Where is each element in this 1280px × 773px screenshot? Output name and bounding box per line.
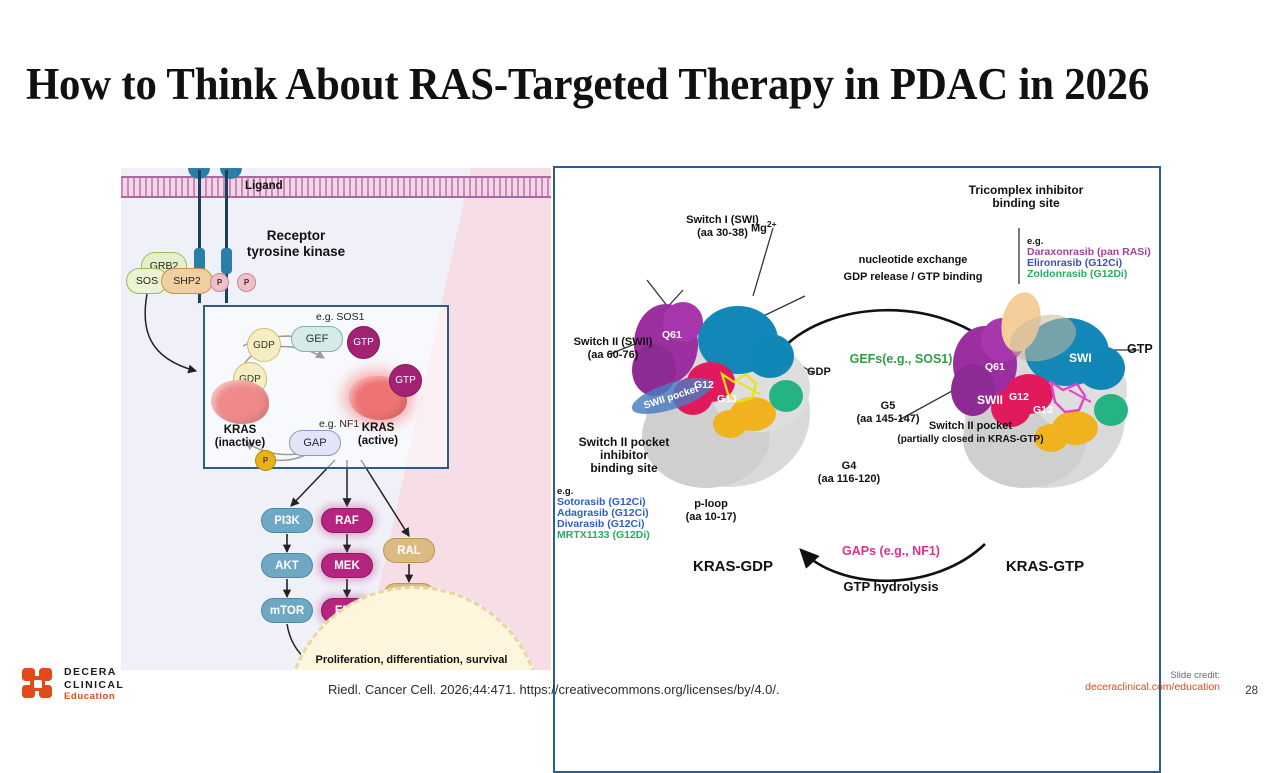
g5-line-1: G5 (833, 400, 943, 413)
mg-ion-label: Mg2+ (751, 218, 777, 236)
slide-credit-url: deceraclinical.com/education (1085, 681, 1220, 693)
switch2-label: Switch II (SWII) (aa 60-76) (559, 336, 667, 362)
node-ral: RAL (383, 538, 435, 563)
switch2-line-2: (aa 60-76) (559, 349, 667, 362)
shp2-node: SHP2 (161, 268, 213, 294)
svg-text:SWII: SWII (977, 393, 1003, 407)
slide-credit: Slide credit: deceraclinical.com/educati… (1085, 670, 1220, 693)
decera-logo-icon (22, 668, 56, 702)
slide-credit-label: Slide credit: (1085, 670, 1220, 681)
node-raf: RAF (321, 508, 373, 533)
page-title: How to Think About RAS-Targeted Therapy … (26, 55, 1166, 113)
svg-text:G12: G12 (1009, 391, 1029, 403)
kras-gtp-structure: SWII Q61 SWI G12 G13 (933, 278, 1148, 493)
exchange-line-1: nucleotide exchange (803, 254, 1023, 267)
kras-gdp-caption: KRAS-GDP (643, 558, 823, 575)
logo-line-3: Education (64, 691, 124, 704)
kras-active-line-1: KRAS (337, 422, 419, 435)
swii-pocket-inhibitor-title: Switch II pocket inhibitor binding site (555, 436, 693, 475)
gtp-swii-pocket-label: Switch II pocket (partially closed in KR… (873, 420, 1068, 446)
kras-active-line-2: (active) (337, 435, 419, 448)
kras-inactive-line-2: (inactive) (199, 437, 281, 450)
logo-line-2: CLINICAL (64, 679, 124, 692)
gdp-ligand-label: GDP (807, 366, 831, 379)
figure-container: Ligand Receptor tyrosine kinase GRB2 SOS… (0, 130, 1280, 650)
svg-text:G13: G13 (1033, 404, 1053, 416)
drug-zoldonrasib: Zoldonrasib (G12Di) (1027, 269, 1151, 280)
gap-node: GAP (289, 430, 341, 456)
svg-text:G12: G12 (694, 379, 714, 391)
mg-sup: 2+ (767, 219, 777, 229)
p-loop-label: p-loop (aa 10-17) (663, 498, 759, 524)
slide-footer: DECERA CLINICAL Education Riedl. Cancer … (0, 652, 1280, 720)
gaps-label: GAPs (e.g., NF1) (791, 546, 991, 557)
citation-text: Riedl. Cancer Cell. 2026;44:471. https:/… (328, 682, 780, 697)
gtp-pocket-line-1: Switch II pocket (873, 420, 1068, 433)
g4-line-2: (aa 116-120) (793, 473, 905, 486)
g4-label: G4 (aa 116-120) (793, 460, 905, 486)
switch2-line-1: Switch II (SWII) (559, 336, 667, 349)
tricomplex-line-2: binding site (951, 197, 1101, 210)
kras-active-label: KRAS (active) (337, 422, 419, 448)
kras-inactive-line-1: KRAS (199, 424, 281, 437)
ploop-line-1: p-loop (663, 498, 759, 511)
mg-base: Mg (751, 223, 767, 235)
receptor-tyrosine-kinase-label: Receptor tyrosine kinase (216, 228, 376, 260)
free-phosphate-chip: P (255, 450, 276, 471)
rtk-label-line-1: Receptor (216, 228, 376, 244)
gtp-free-chip: GTP (347, 326, 380, 359)
membrane-lipid-heads (121, 178, 551, 196)
ras-pathway-panel: Ligand Receptor tyrosine kinase GRB2 SOS… (121, 168, 551, 670)
svg-text:SWI: SWI (1069, 351, 1092, 365)
rtk-label-line-2: tyrosine kinase (216, 244, 376, 260)
gef-example-label: e.g. SOS1 (316, 311, 364, 323)
svg-text:Q61: Q61 (985, 361, 1005, 373)
logo-line-1: DECERA (64, 666, 124, 679)
gtp-bound-chip: GTP (389, 364, 422, 397)
ploop-line-2: (aa 10-17) (663, 511, 759, 524)
svg-text:G13: G13 (717, 393, 737, 405)
node-mek: MEK (321, 553, 373, 578)
gdp-free-chip: GDP (247, 328, 281, 362)
kras-inactive-blob (211, 380, 269, 424)
phospho-site-2: P (237, 273, 256, 292)
gtp-hydrolysis-label: GTP hydrolysis (801, 580, 981, 593)
gtp-ligand-label: GTP (1127, 343, 1153, 356)
node-akt: AKT (261, 553, 313, 578)
gef-node: GEF (291, 326, 343, 352)
decera-logo-wordmark: DECERA CLINICAL Education (64, 666, 124, 704)
pocket-title-line-3: binding site (555, 462, 693, 475)
gtp-pocket-line-2: (partially closed in KRAS-GTP) (873, 433, 1068, 446)
page-number: 28 (1245, 685, 1258, 697)
drug-mrtx1133: MRTX1133 (G12Di) (557, 530, 650, 541)
node-pi3k: PI3K (261, 508, 313, 533)
kras-inactive-label: KRAS (inactive) (199, 424, 281, 450)
kras-gtp-caption: KRAS-GTP (945, 558, 1145, 575)
plasma-membrane (121, 176, 551, 198)
ligand-label: Ligand (245, 180, 283, 192)
tricomplex-binding-site-label: Tricomplex inhibitor binding site (951, 184, 1101, 210)
node-mtor: mTOR (261, 598, 313, 623)
phospho-site-1: P (210, 273, 229, 292)
g4-line-1: G4 (793, 460, 905, 473)
